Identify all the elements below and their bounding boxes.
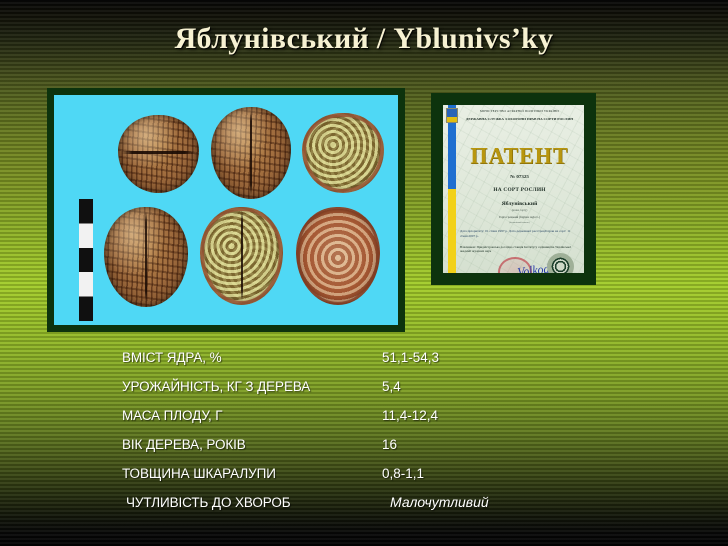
patent-subject-line: НА СОРТ РОСЛИН bbox=[459, 187, 580, 193]
scale-bar-icon bbox=[79, 199, 93, 321]
spec-label: ВІК ДЕРЕВА, РОКІВ bbox=[122, 430, 246, 459]
patent-ministry-line: МІНІСТЕРСТВО АГРАРНОЇ ПОЛІТИКИ УКРАЇНИ bbox=[459, 109, 580, 113]
walnut-open-shell bbox=[296, 207, 380, 305]
walnut-kernel-1 bbox=[302, 113, 384, 193]
patent-paper: МІНІСТЕРСТВО АГРАРНОЇ ПОЛІТИКИ УКРАЇНИ Д… bbox=[443, 105, 584, 273]
table-row: ВМІСТ ЯДРА, % 51,1-54,3 bbox=[122, 343, 592, 372]
patent-certificate-image: МІНІСТЕРСТВО АГРАРНОЇ ПОЛІТИКИ УКРАЇНИ Д… bbox=[431, 93, 596, 285]
walnut-suture bbox=[241, 211, 243, 301]
walnut-top-view-3 bbox=[104, 207, 188, 307]
table-row: МАСА ПЛОДУ, Г 11,4-12,4 bbox=[122, 401, 592, 430]
spec-label: УРОЖАЙНІСТЬ, КГ З ДЕРЕВА bbox=[122, 372, 310, 401]
spec-value: 16 bbox=[382, 430, 397, 459]
patent-taxon-caption: (ботанічний таксон) bbox=[459, 221, 580, 224]
spec-value: 11,4-12,4 bbox=[382, 401, 438, 430]
specification-table: ВМІСТ ЯДРА, % 51,1-54,3 УРОЖАЙНІСТЬ, КГ … bbox=[122, 343, 592, 517]
patent-heading: ПАТЕНТ bbox=[459, 142, 580, 169]
spec-value: 51,1-54,3 bbox=[382, 343, 439, 372]
patent-service-line: ДЕРЖАВНА СЛУЖБА З ОХОРОНИ ПРАВ НА СОРТИ … bbox=[459, 117, 580, 122]
patent-dates: Дата пріоритету: 01 січня 1997 р. Дата д… bbox=[460, 229, 578, 238]
patent-variety-caption: (назва сорту) bbox=[459, 209, 580, 212]
patent-number: № 07325 bbox=[459, 175, 580, 180]
walnut-suture bbox=[145, 211, 147, 303]
spec-label: ТОВЩИНА ШКАРАЛУПИ bbox=[122, 459, 276, 488]
coat-of-arms-icon bbox=[446, 108, 458, 123]
table-row: УРОЖАЙНІСТЬ, КГ З ДЕРЕВА 5,4 bbox=[122, 372, 592, 401]
spec-value: 5,4 bbox=[382, 372, 401, 401]
table-row: ТОВЩИНА ШКАРАЛУПИ 0,8-1,1 bbox=[122, 459, 592, 488]
walnut-suture bbox=[250, 111, 252, 196]
walnut-top-view-2 bbox=[211, 107, 291, 199]
patent-taxon: Горіх грецький (Juglans regia L.) bbox=[459, 215, 580, 219]
walnut-seam bbox=[121, 151, 196, 154]
patent-variety-name: Яблунівський bbox=[459, 201, 580, 207]
spec-value: Малочутливий bbox=[390, 488, 489, 517]
spec-label: ВМІСТ ЯДРА, % bbox=[122, 343, 222, 372]
spec-value: 0,8-1,1 bbox=[382, 459, 424, 488]
presentation-slide: Яблунівський / Yblunivs’ky МІНІСТЕРСТВО … bbox=[0, 0, 728, 546]
walnut-specimens-image bbox=[47, 88, 405, 332]
ukraine-flag-stripe-icon bbox=[448, 105, 456, 273]
walnut-kernel-2 bbox=[200, 207, 283, 305]
walnut-top-view-1 bbox=[118, 115, 199, 193]
table-row: ВІК ДЕРЕВА, РОКІВ 16 bbox=[122, 430, 592, 459]
spec-label: ЧУТЛИВІСТЬ ДО ХВОРОБ bbox=[126, 488, 291, 517]
page-title: Яблунівський / Yblunivs’ky bbox=[0, 22, 728, 56]
patent-seal-icon bbox=[547, 253, 574, 273]
table-row: ЧУТЛИВІСТЬ ДО ХВОРОБ Малочутливий bbox=[122, 488, 592, 517]
spec-label: МАСА ПЛОДУ, Г bbox=[122, 401, 223, 430]
